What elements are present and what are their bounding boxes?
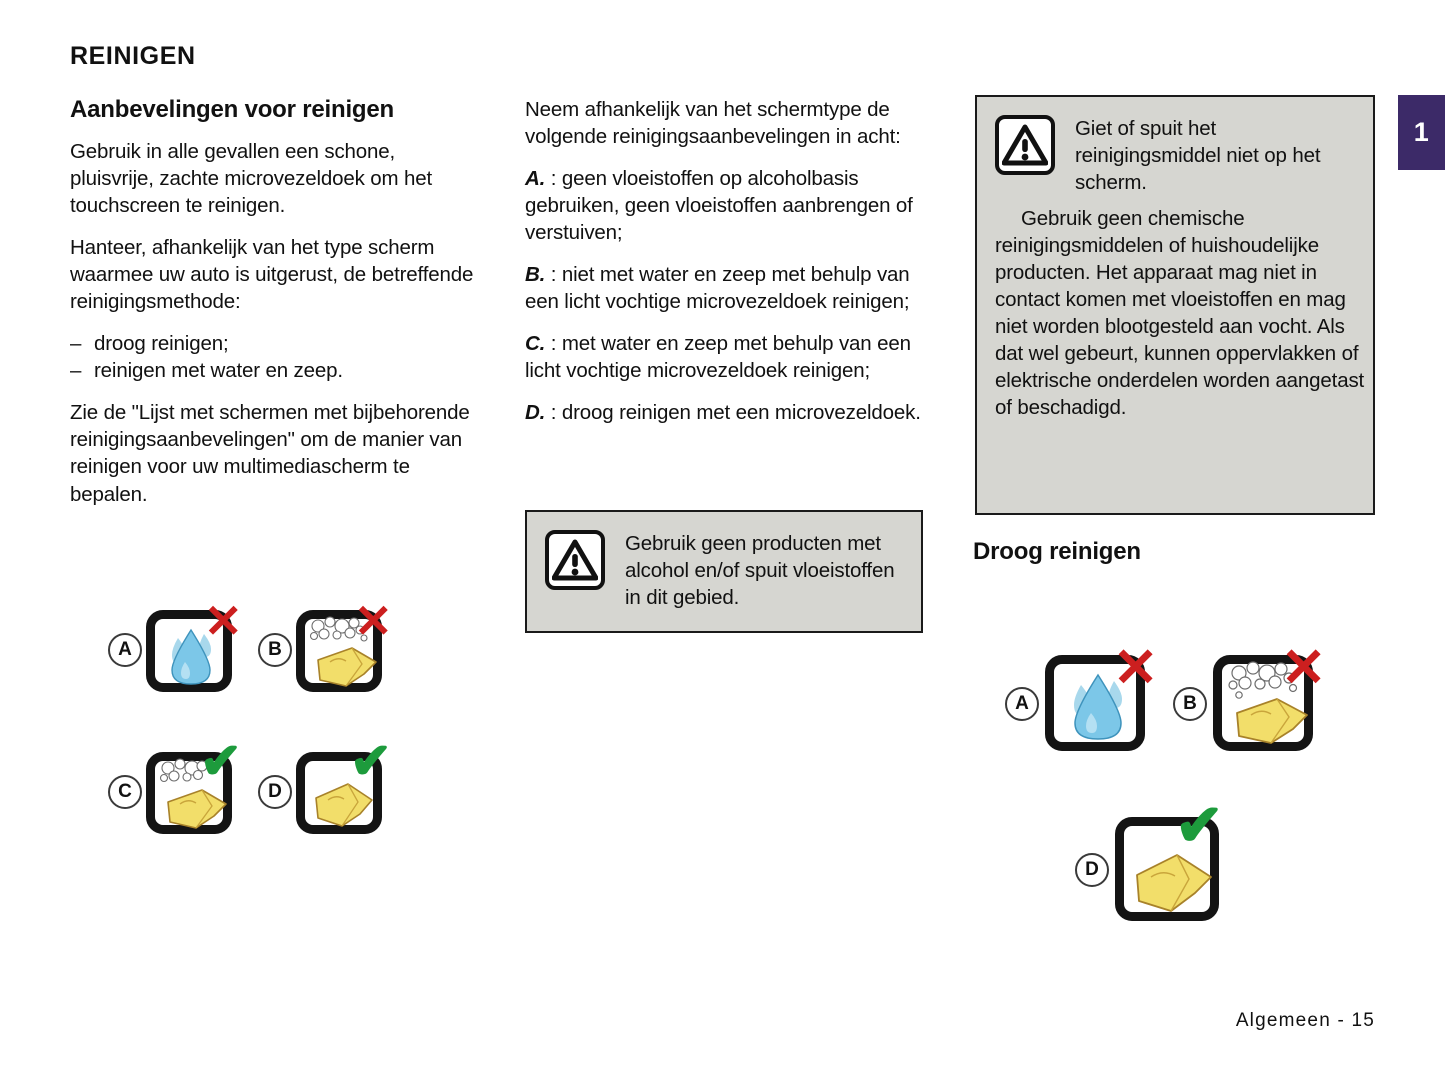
item-text-a: : geen vloeistoffen op alcoholbasis gebr… [525,167,913,244]
section-heading-recommendations: Aanbevelingen voor reinigen [70,96,478,124]
pictogram-letter-c: C [108,775,142,809]
pictogram-letter-a: A [108,633,142,667]
list-item: droog reinigen; [70,330,478,357]
pictogram-d: D ✔ [1075,807,1243,933]
warning-text-alcohol: Gebruik geen producten met alcohol en/of… [625,530,901,611]
paragraph-screen-type: Neem afhankelijk van het schermtype de v… [525,96,925,150]
pictogram-letter-d: D [258,775,292,809]
red-cross-mark: ✕ [1281,641,1326,695]
column-two: Neem afhankelijk van het schermtype de v… [525,96,925,426]
recommendation-item-b: B. : niet met water en zeep met behulp v… [525,261,925,315]
pictogram-letter-a: A [1005,687,1039,721]
warning-triangle-icon [995,115,1055,175]
item-letter-a: A. [525,167,545,190]
pictogram-a: A ✕ [108,600,258,700]
red-cross-mark: ✕ [1113,641,1158,695]
pictogram-row: D ✔ [1075,807,1345,933]
recommendation-item-c: C. : met water en zeep met behulp van ee… [525,330,925,384]
pictogram-b: B ✕ [1173,645,1341,763]
pictogram-c: C ✔ [108,742,258,842]
page-title: REINIGEN [70,42,196,71]
chapter-tab: 1 [1398,95,1445,170]
item-letter-c: C. [525,332,545,355]
cleaning-method-list: droog reinigen; reinigen met water en ze… [70,330,478,384]
warning-triangle-icon [545,530,605,590]
recommendation-item-a: A. : geen vloeistoffen op alcoholbasis g… [525,165,925,246]
green-check-mark: ✔ [200,736,242,786]
pictogram-letter-d: D [1075,853,1109,887]
paragraph-reference: Zie de "Lijst met schermen met bijbehore… [70,399,478,507]
paragraph-intro: Gebruik in alle gevallen een schone, plu… [70,138,478,219]
pictogram-group-column-one: A ✕ B [108,600,408,842]
column-one: Aanbevelingen voor reinigen Gebruik in a… [70,96,478,508]
pictogram-row: A ✕ B [1005,645,1345,763]
warning-text-part-one: Giet of spuit het reinigingsmiddel niet … [1075,117,1320,194]
green-check-mark: ✔ [350,736,392,786]
warning-box-alcohol: Gebruik geen producten met alcohol en/of… [525,510,923,633]
item-text-b: : niet met water en zeep met behulp van … [525,263,910,313]
page-footer: Algemeen - 15 [1236,1010,1375,1032]
list-item: reinigen met water en zeep. [70,357,478,384]
red-cross-mark: ✕ [354,598,393,644]
pictogram-row: A ✕ B [108,600,408,700]
pictogram-row: C ✔ D [108,742,408,842]
section-heading-dry-cleaning: Droog reinigen [973,538,1141,566]
item-letter-d: D. [525,401,545,424]
item-letter-b: B. [525,263,545,286]
warning-text-cleaning-agent: Giet of spuit het reinigingsmiddel niet … [1075,115,1353,196]
green-check-mark: ✔ [1175,797,1224,855]
pictogram-group-column-three: A ✕ B [1005,645,1345,933]
pictogram-letter-b: B [1173,687,1207,721]
pictogram-d: D ✔ [258,742,408,842]
recommendation-item-d: D. : droog reinigen met een microvezeldo… [525,399,925,426]
document-page: 1 REINIGEN Aanbevelingen voor reinigen G… [0,0,1445,1070]
pictogram-b: B ✕ [258,600,408,700]
warning-text-part-two: Gebruik geen chemische reinigingsmiddele… [995,205,1365,421]
pictogram-letter-b: B [258,633,292,667]
item-text-c: : met water en zeep met behulp van een l… [525,332,911,382]
pictogram-a: A ✕ [1005,645,1173,763]
paragraph-method: Hanteer, afhankelijk van het type scherm… [70,234,478,315]
item-text-d: : droog reinigen met een microvezeldoek. [551,401,921,424]
red-cross-mark: ✕ [204,598,243,644]
